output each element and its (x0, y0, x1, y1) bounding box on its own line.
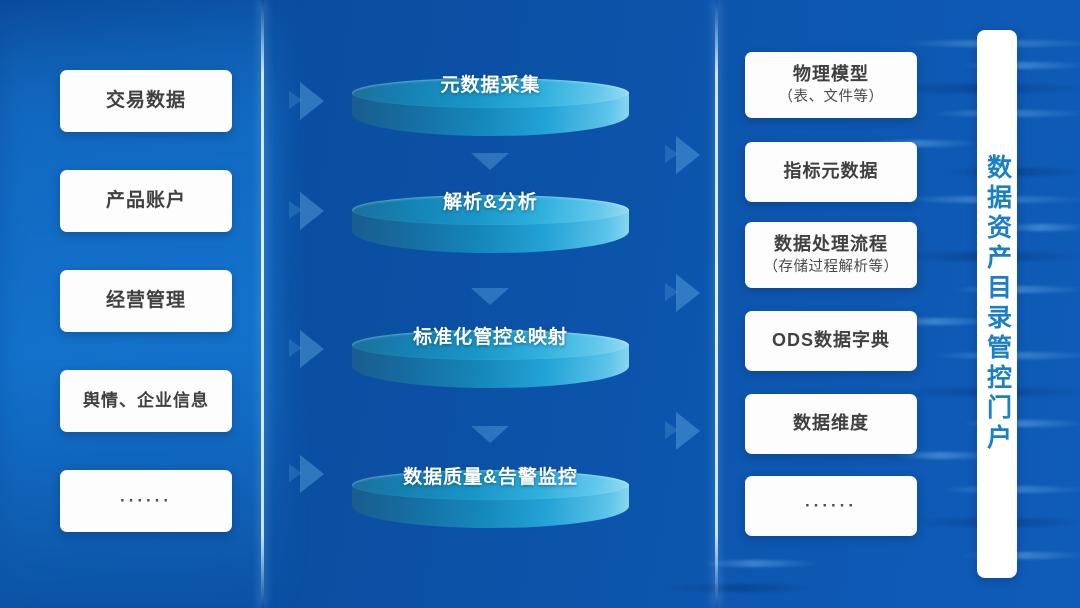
list-item[interactable]: 经营管理 (60, 270, 232, 332)
card-label: ······ (120, 490, 172, 512)
list-item[interactable]: ODS数据字典 (745, 311, 917, 371)
stage-label: 标准化管控&映射 (352, 322, 629, 349)
list-item[interactable]: 产品账户 (60, 170, 232, 232)
flow-arrow-right-icon (676, 274, 700, 312)
list-item[interactable]: 数据维度 (745, 394, 917, 454)
flow-arrow-right-icon (300, 455, 324, 493)
flow-arrow-right-icon (676, 412, 700, 450)
flow-arrow-down-icon (471, 288, 509, 305)
card-label: 产品账户 (106, 189, 186, 213)
stage-label: 元数据采集 (352, 70, 629, 97)
divider-left (261, 0, 264, 608)
card-sublabel: （表、文件等） (779, 88, 884, 107)
list-item[interactable]: 舆情、企业信息 (60, 370, 232, 432)
diagram-canvas: 交易数据 产品账户 经营管理 舆情、企业信息 ······ 元数据采集 解析&分… (0, 0, 1080, 608)
list-item[interactable]: 物理模型 （表、文件等） (745, 52, 917, 118)
card-label: 数据处理流程 (774, 233, 888, 256)
stage-label: 数据质量&告警监控 (352, 462, 629, 489)
list-item[interactable]: 交易数据 (60, 70, 232, 132)
list-item-ellipsis[interactable]: ······ (60, 470, 232, 532)
flow-arrow-down-icon (471, 426, 509, 443)
card-label: 数据维度 (793, 412, 869, 435)
flow-arrow-right-icon (300, 330, 324, 368)
divider-right (715, 0, 718, 608)
card-sublabel: （存储过程解析等） (764, 258, 899, 277)
stage-label: 解析&分析 (352, 187, 629, 214)
card-label: 经营管理 (106, 289, 186, 313)
list-item[interactable]: 数据处理流程 （存储过程解析等） (745, 222, 917, 288)
card-label: 交易数据 (106, 89, 186, 113)
list-item-ellipsis[interactable]: ······ (745, 476, 917, 536)
card-label: ODS数据字典 (772, 329, 890, 352)
flow-arrow-down-icon (471, 153, 509, 170)
card-label: 物理模型 (793, 63, 869, 86)
flow-arrow-right-icon (676, 136, 700, 174)
flow-arrow-right-icon (300, 192, 324, 230)
flow-arrow-right-icon (300, 82, 324, 120)
list-item[interactable]: 指标元数据 (745, 142, 917, 202)
card-label: ······ (805, 495, 857, 517)
portal-title-label: 数据资产目录管控门户 (985, 154, 1010, 454)
card-label: 指标元数据 (784, 160, 879, 183)
portal-title-bar[interactable]: 数据资产目录管控门户 (977, 30, 1017, 578)
card-label: 舆情、企业信息 (83, 390, 209, 412)
